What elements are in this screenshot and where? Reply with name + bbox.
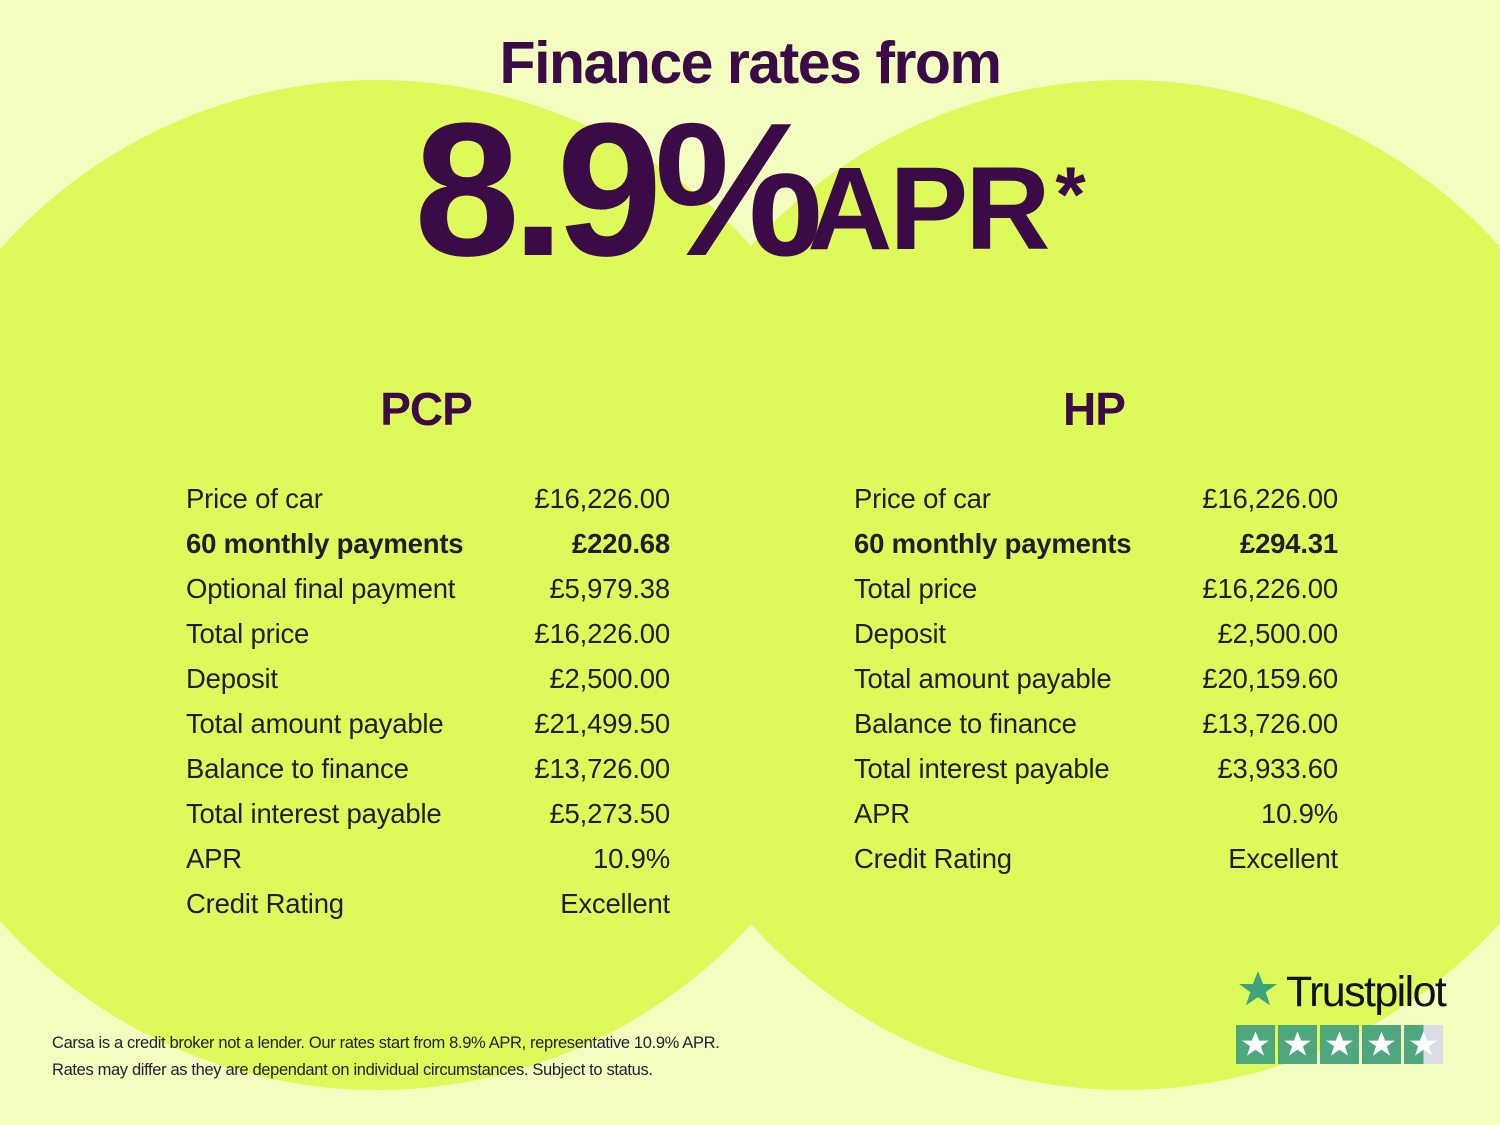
trustpilot-full-star-icon: [1236, 1025, 1275, 1064]
plan-row-value: £3,933.60: [1217, 753, 1338, 785]
plan-row: Balance to finance£13,726.00: [838, 708, 1350, 753]
plan-row-value: £16,226.00: [1202, 573, 1338, 605]
plan-title-hp: HP: [838, 382, 1350, 436]
plan-row: Deposit£2,500.00: [170, 663, 682, 708]
disclaimer-line-2: Rates may differ as they are dependant o…: [52, 1057, 852, 1084]
headline-rate-line: 8.9%APR*: [0, 103, 1500, 278]
plan-row-label: Price of car: [186, 483, 323, 515]
plan-row: Total amount payable£21,499.50: [170, 708, 682, 753]
plan-row: Credit RatingExcellent: [838, 843, 1350, 888]
plan-row-value: £16,226.00: [1202, 483, 1338, 515]
legal-disclaimer: Carsa is a credit broker not a lender. O…: [52, 1030, 852, 1083]
plan-row: 60 monthly payments£220.68: [170, 528, 682, 573]
plan-row-value: £5,979.38: [549, 573, 670, 605]
plan-table-pcp: PCP Price of car£16,226.0060 monthly pay…: [170, 382, 682, 933]
plan-row-label: Deposit: [186, 663, 278, 695]
plan-row: Price of car£16,226.00: [838, 483, 1350, 528]
plan-row-value: £5,273.50: [549, 798, 670, 830]
plan-row-value: Excellent: [560, 888, 670, 920]
plan-row-label: Balance to finance: [186, 753, 409, 785]
plan-table-hp: HP Price of car£16,226.0060 monthly paym…: [838, 382, 1350, 888]
plan-row: Price of car£16,226.00: [170, 483, 682, 528]
plan-row: Total price£16,226.00: [170, 618, 682, 663]
plan-row-label: 60 monthly payments: [854, 528, 1131, 560]
plan-row-label: Total interest payable: [186, 798, 441, 830]
plan-row-value: £13,726.00: [1202, 708, 1338, 740]
plan-row-label: Deposit: [854, 618, 946, 650]
plan-row: Total price£16,226.00: [838, 573, 1350, 618]
plan-row: APR10.9%: [838, 798, 1350, 843]
plan-row-value: 10.9%: [593, 843, 670, 875]
trustpilot-name: Trustpilot: [1286, 971, 1445, 1014]
plan-row-value: £16,226.00: [534, 483, 670, 515]
apr-rate-value: 8.9%: [414, 84, 815, 296]
plan-row-label: APR: [854, 798, 910, 830]
trustpilot-full-star-icon: [1320, 1025, 1359, 1064]
plan-row-label: 60 monthly payments: [186, 528, 463, 560]
plan-row-value: £21,499.50: [534, 708, 670, 740]
trustpilot-star-row: [1236, 1025, 1451, 1064]
plan-title-pcp: PCP: [170, 382, 682, 436]
plan-row-value: £2,500.00: [1217, 618, 1338, 650]
disclaimer-line-1: Carsa is a credit broker not a lender. O…: [52, 1030, 852, 1057]
plan-row: Total amount payable£20,159.60: [838, 663, 1350, 708]
plan-row-label: APR: [186, 843, 242, 875]
plan-row: Total interest payable£3,933.60: [838, 753, 1350, 798]
plan-row-label: Balance to finance: [854, 708, 1077, 740]
plan-row-label: Total amount payable: [854, 663, 1111, 695]
trustpilot-wordmark: Trustpilot: [1236, 966, 1451, 1018]
trustpilot-full-star-icon: [1278, 1025, 1317, 1064]
headline-block: Finance rates from 8.9%APR*: [0, 34, 1500, 278]
plan-row-label: Total interest payable: [854, 753, 1109, 785]
plan-row: Balance to finance£13,726.00: [170, 753, 682, 798]
plan-row: Credit RatingExcellent: [170, 888, 682, 933]
plan-row: Optional final payment£5,979.38: [170, 573, 682, 618]
plan-row-label: Price of car: [854, 483, 991, 515]
plan-row-value: £294.31: [1240, 528, 1338, 560]
plan-row-label: Credit Rating: [854, 843, 1012, 875]
finance-rates-banner: Finance rates from 8.9%APR* PCP Price of…: [0, 0, 1500, 1125]
plan-row-value: £20,159.60: [1202, 663, 1338, 695]
plan-row: Total interest payable£5,273.50: [170, 798, 682, 843]
plan-row-value: 10.9%: [1261, 798, 1338, 830]
trustpilot-star-icon: [1236, 969, 1280, 1016]
plan-row-value: £16,226.00: [534, 618, 670, 650]
trustpilot-half-star-icon: [1404, 1025, 1443, 1064]
plan-row: APR10.9%: [170, 843, 682, 888]
plan-row-value: £13,726.00: [534, 753, 670, 785]
plan-row-label: Total price: [854, 573, 977, 605]
trustpilot-full-star-icon: [1362, 1025, 1401, 1064]
plan-row-label: Total price: [186, 618, 309, 650]
plan-rows-hp: Price of car£16,226.0060 monthly payment…: [838, 483, 1350, 888]
plan-row-label: Total amount payable: [186, 708, 443, 740]
plan-row-label: Credit Rating: [186, 888, 344, 920]
trustpilot-rating[interactable]: Trustpilot: [1236, 966, 1451, 1064]
plan-row: 60 monthly payments£294.31: [838, 528, 1350, 573]
plan-row: Deposit£2,500.00: [838, 618, 1350, 663]
plan-row-label: Optional final payment: [186, 573, 455, 605]
plan-row-value: £2,500.00: [549, 663, 670, 695]
apr-label: APR: [807, 143, 1047, 275]
asterisk-marker: *: [1055, 150, 1085, 238]
plan-rows-pcp: Price of car£16,226.0060 monthly payment…: [170, 483, 682, 933]
plan-row-value: £220.68: [572, 528, 670, 560]
plan-row-value: Excellent: [1228, 843, 1338, 875]
